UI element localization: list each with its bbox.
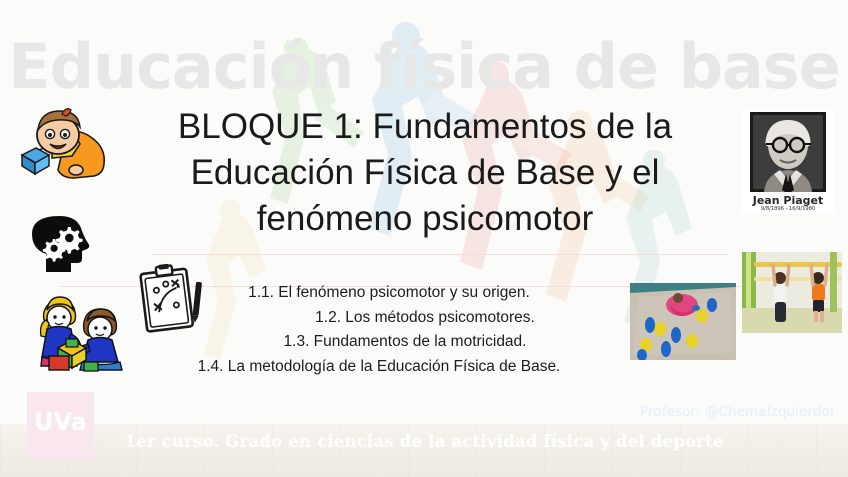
jean-piaget-dates: 9/8/1896 - 16/9/1980 — [742, 206, 834, 212]
tactics-clipboard-graphic — [136, 262, 216, 342]
photo-child-on-mat-graphic — [630, 283, 736, 360]
photo-children-on-bar — [742, 252, 842, 333]
uva-logo-text: UVa — [27, 408, 94, 436]
professor-credit: Profesor: @ChemaIzquierdoI — [640, 404, 834, 420]
children-playing-clipart — [22, 292, 130, 380]
tactics-clipboard-icon — [136, 262, 216, 342]
photo-children-on-bar-graphic — [742, 252, 842, 333]
head-gears-graphic — [30, 214, 92, 272]
contents-list: 1.1. El fenómeno psicomotor y su origen.… — [150, 281, 620, 379]
list-item: 1.1. El fenómeno psicomotor y su origen. — [154, 281, 624, 306]
piaget-portrait-graphic — [750, 112, 826, 192]
page-title: BLOQUE 1: Fundamentos de la Educación Fí… — [110, 104, 740, 242]
jean-piaget-photo — [750, 112, 826, 192]
footer-course-line: 1er curso. Grado en ciencias de la activ… — [0, 432, 848, 451]
crawling-baby-clipart — [14, 104, 118, 194]
list-item: 1.2. Los métodos psicomotores. — [190, 306, 660, 331]
head-with-gears-icon — [30, 214, 92, 272]
decorative-rule-top — [152, 254, 728, 255]
watermark-title: Educación física de base — [0, 30, 848, 103]
crawling-baby-graphic — [14, 104, 118, 194]
photo-child-on-mat — [630, 283, 736, 360]
children-playing-graphic — [22, 292, 130, 380]
list-item: 1.3. Fundamentos de la motricidad. — [170, 330, 640, 355]
presentation-slide: Educación física de base BLOQUE 1: Funda… — [0, 0, 848, 477]
jean-piaget-figure: Jean Piaget 9/8/1896 - 16/9/1980 — [742, 110, 834, 214]
uva-logo: UVa — [27, 392, 94, 459]
list-item: 1.4. La metodología de la Educación Físi… — [144, 355, 614, 380]
